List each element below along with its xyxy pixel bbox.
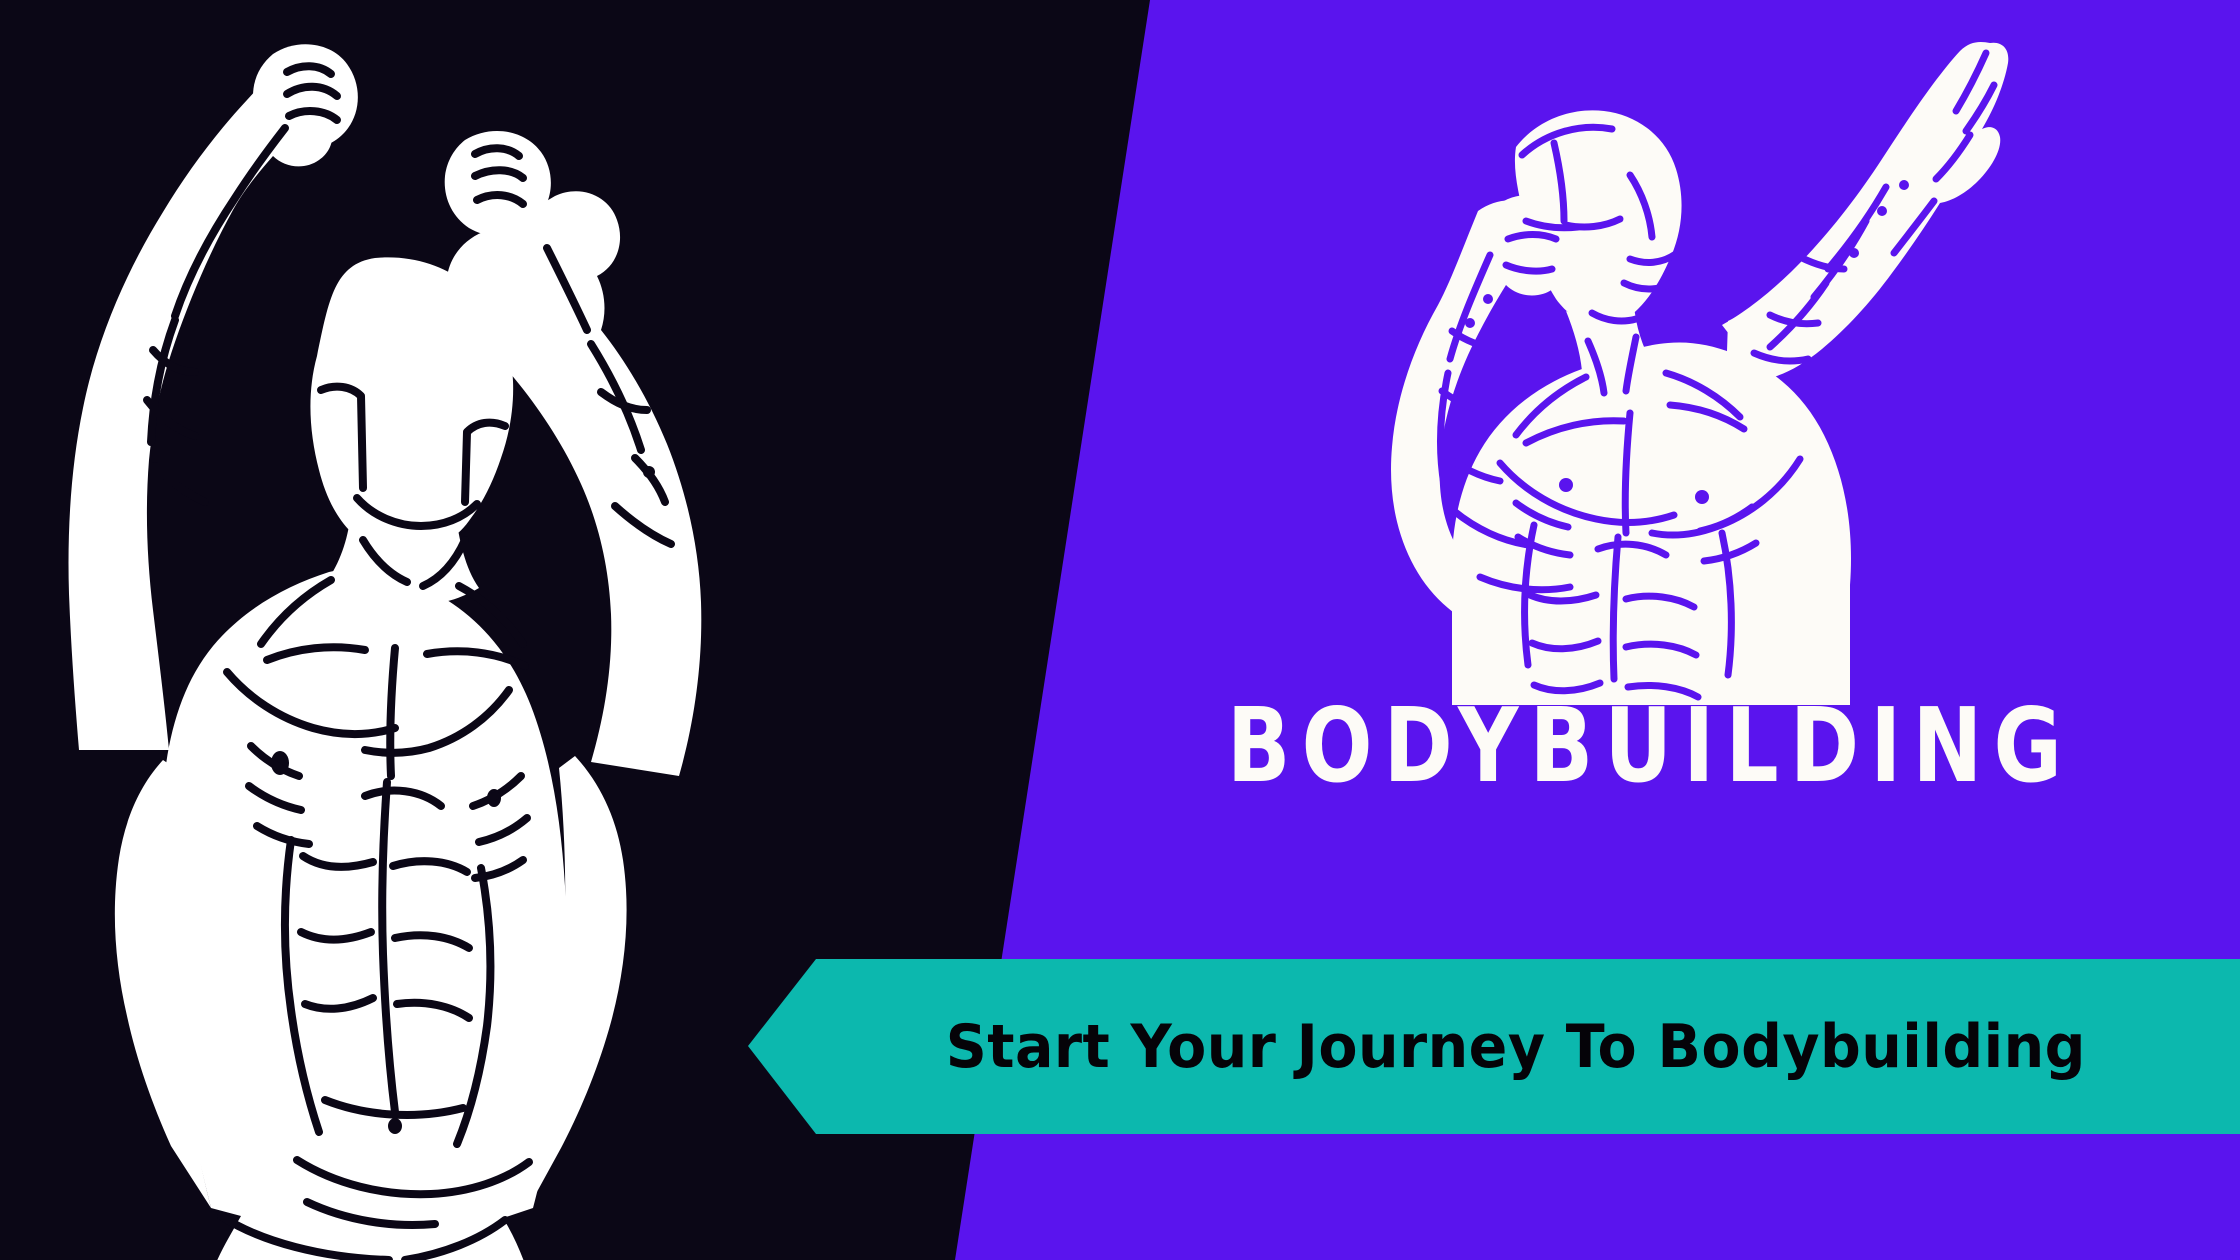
- bodybuilder-one-arm-raised-lineart: [1330, 25, 2060, 705]
- tagline-text: Start Your Journey To Bodybuilding: [785, 959, 2202, 1134]
- poster-canvas: BODYBUILDING Start Your Journey To Bodyb…: [0, 0, 2240, 1260]
- tagline-banner: Start Your Journey To Bodybuilding: [748, 959, 2240, 1134]
- brand-wordmark: BODYBUILDING: [1194, 694, 2106, 797]
- bodybuilder-double-biceps-silhouette: [35, 20, 715, 1260]
